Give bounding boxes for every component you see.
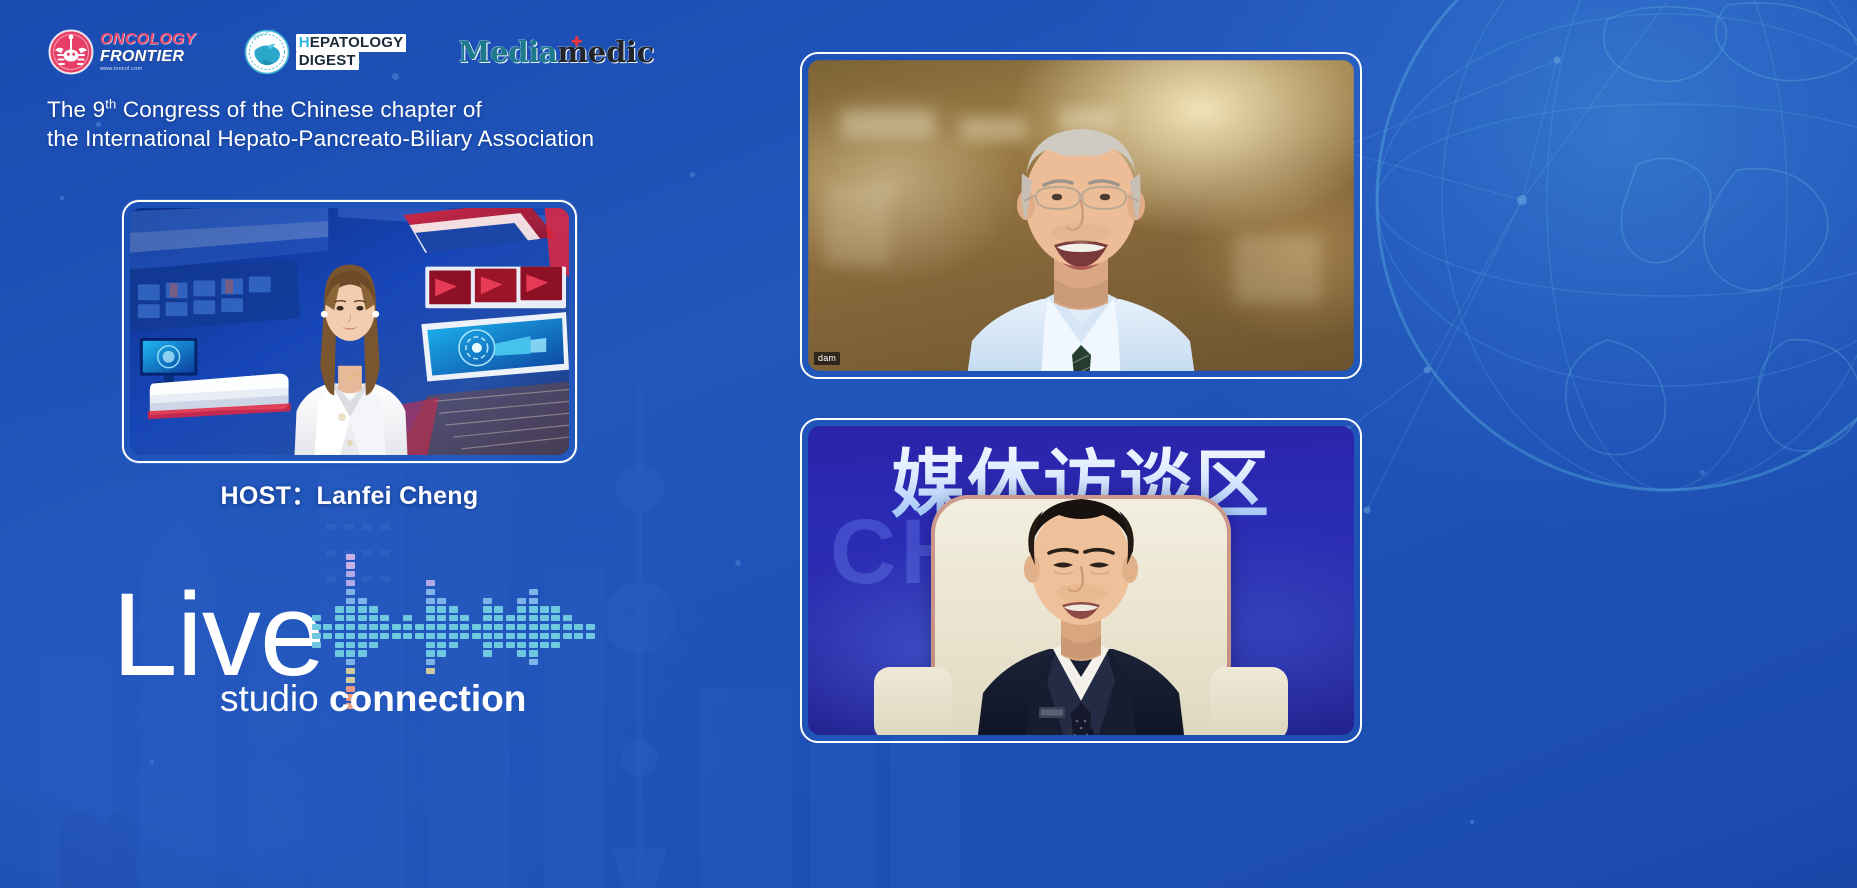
oncology-line1: ONCOLOGY	[100, 32, 196, 48]
equalizer-cell	[426, 615, 435, 621]
equalizer-cell	[426, 598, 435, 604]
equalizer-cell	[426, 624, 435, 630]
equalizer-cell	[437, 642, 446, 648]
equalizer-cell	[415, 633, 424, 639]
equalizer-cell	[358, 606, 367, 612]
equalizer-cell	[494, 615, 503, 621]
equalizer-cell	[551, 624, 560, 630]
partner-logo-row: ONCOLOGY FRONTIER www.ioncol.com HEPATOL…	[48, 26, 654, 78]
armchair-right-arm	[1210, 667, 1288, 735]
equalizer-cell	[346, 589, 355, 595]
equalizer-cell	[449, 615, 458, 621]
equalizer-cell	[540, 642, 549, 648]
equalizer-cell	[346, 615, 355, 621]
mediamedic-logo: Mediamedic ✚	[458, 38, 654, 67]
equalizer-cell	[517, 633, 526, 639]
equalizer-cell	[346, 554, 355, 560]
equalizer-cell	[574, 633, 583, 639]
equalizer-cell	[472, 633, 481, 639]
equalizer-cell	[335, 633, 344, 639]
equalizer-cell	[494, 624, 503, 630]
equalizer-cell	[483, 615, 492, 621]
equalizer-cell	[335, 650, 344, 656]
equalizer-cell	[437, 615, 446, 621]
equalizer-cell	[494, 606, 503, 612]
equalizer-cell	[483, 650, 492, 656]
equalizer-cell	[346, 598, 355, 604]
equalizer-cell	[483, 633, 492, 639]
equalizer-cell	[312, 624, 321, 630]
left-information-column: ONCOLOGY FRONTIER www.ioncol.com HEPATOL…	[0, 0, 820, 888]
congress-ordinal-suffix: th	[105, 97, 116, 112]
equalizer-cell	[426, 580, 435, 586]
equalizer-cell	[506, 642, 515, 648]
hepatology-digest-logo: HEPATOLOGY DIGEST HEPATOLOGY DIGEST	[244, 29, 407, 75]
equalizer-cell	[529, 642, 538, 648]
equalizer-cell	[529, 598, 538, 604]
equalizer-cell	[426, 668, 435, 674]
equalizer-cell	[494, 633, 503, 639]
equalizer-cell	[346, 659, 355, 665]
equalizer-cell	[437, 624, 446, 630]
equalizer-cell	[380, 633, 389, 639]
equalizer-cell	[483, 598, 492, 604]
equalizer-cell	[426, 589, 435, 595]
host-video-feed[interactable]	[130, 208, 569, 455]
equalizer-cell	[563, 624, 572, 630]
equalizer-cell	[529, 615, 538, 621]
shelf-blur-1	[841, 110, 934, 138]
equalizer-cell	[517, 642, 526, 648]
equalizer-cell	[483, 606, 492, 612]
equalizer-cell	[346, 650, 355, 656]
oncology-line2: FRONTIER	[100, 49, 196, 65]
equalizer-cell	[529, 606, 538, 612]
equalizer-cell	[392, 633, 401, 639]
equalizer-cell	[494, 642, 503, 648]
equalizer-cell	[346, 571, 355, 577]
equalizer-cell	[563, 615, 572, 621]
live-word: Live	[112, 576, 324, 694]
mediamedic-part1: Media	[458, 35, 557, 69]
equalizer-cell	[460, 633, 469, 639]
hepatology-line2: DIGEST	[296, 52, 407, 70]
equalizer-cell	[312, 615, 321, 621]
equalizer-cell	[517, 606, 526, 612]
equalizer-cell	[335, 606, 344, 612]
speaker-2-figure	[961, 469, 1201, 735]
equalizer-cell	[506, 624, 515, 630]
equalizer-cell	[358, 633, 367, 639]
congress-line1-post: Congress of the Chinese chapter of	[116, 97, 481, 122]
oncology-url: www.ioncol.com	[100, 67, 196, 73]
equalizer-cell	[358, 624, 367, 630]
equalizer-cell	[517, 598, 526, 604]
equalizer-cell	[380, 615, 389, 621]
equalizer-cell	[426, 606, 435, 612]
equalizer-cell	[392, 624, 401, 630]
equalizer-cell	[574, 624, 583, 630]
equalizer-cell	[323, 624, 332, 630]
shelf-blur-5	[1234, 234, 1321, 302]
equalizer-cell	[529, 589, 538, 595]
equalizer-cell	[460, 615, 469, 621]
equalizer-cell	[472, 624, 481, 630]
host-video-frame[interactable]	[122, 200, 577, 463]
remote-speaker-video-bottom[interactable]: CHPBA 媒体访谈区	[800, 418, 1362, 743]
equalizer-cell	[426, 659, 435, 665]
equalizer-cell	[346, 562, 355, 568]
equalizer-cell	[426, 633, 435, 639]
equalizer-cell	[449, 633, 458, 639]
medical-cross-icon: ✚	[571, 35, 582, 48]
equalizer-cell	[551, 615, 560, 621]
equalizer-cell	[346, 606, 355, 612]
equalizer-cell	[426, 642, 435, 648]
equalizer-cell	[540, 633, 549, 639]
equalizer-cell	[529, 624, 538, 630]
equalizer-cell	[506, 615, 515, 621]
equalizer-cell	[483, 642, 492, 648]
equalizer-cell	[358, 650, 367, 656]
equalizer-cell	[335, 615, 344, 621]
equalizer-cell	[449, 642, 458, 648]
congress-line1-pre: The 9	[47, 97, 105, 122]
connection-word: connection	[329, 678, 526, 719]
hepatology-rest: EPATOLOGY	[310, 34, 403, 51]
video-feed-top[interactable]: dam	[808, 60, 1354, 371]
equalizer-cell	[517, 650, 526, 656]
equalizer-cell	[369, 642, 378, 648]
equalizer-cell	[586, 633, 595, 639]
equalizer-cell	[335, 624, 344, 630]
equalizer-cell	[403, 624, 412, 630]
equalizer-cell	[517, 624, 526, 630]
equalizer-cell	[346, 668, 355, 674]
equalizer-cell	[346, 633, 355, 639]
equalizer-cell	[323, 633, 332, 639]
equalizer-cell	[346, 624, 355, 630]
hepatology-digest-wordmark: HEPATOLOGY DIGEST	[296, 34, 407, 70]
equalizer-cell	[380, 624, 389, 630]
studio-connection-line: studio connection	[220, 680, 526, 717]
remote-speaker-video-top[interactable]: dam	[800, 52, 1362, 379]
participant-name-tag-top: dam	[814, 352, 840, 366]
equalizer-cell	[369, 606, 378, 612]
equalizer-cell	[540, 624, 549, 630]
congress-title: The 9th Congress of the Chinese chapter …	[47, 96, 747, 154]
equalizer-cell	[415, 624, 424, 630]
liver-emblem-icon: HEPATOLOGY DIGEST	[244, 29, 290, 75]
equalizer-cell	[403, 633, 412, 639]
oncology-frontier-wordmark: ONCOLOGY FRONTIER www.ioncol.com	[100, 32, 196, 73]
equalizer-cell	[551, 642, 560, 648]
equalizer-cell	[460, 624, 469, 630]
crab-emblem-icon	[48, 29, 94, 75]
equalizer-cell	[563, 633, 572, 639]
equalizer-cell	[551, 606, 560, 612]
hepatology-accent-letter: H	[299, 34, 310, 51]
equalizer-cell	[437, 606, 446, 612]
equalizer-cell	[369, 615, 378, 621]
equalizer-cell	[540, 615, 549, 621]
equalizer-cell	[358, 642, 367, 648]
shelf-blur-4	[824, 184, 890, 265]
equalizer-cell	[483, 624, 492, 630]
equalizer-cell	[517, 615, 526, 621]
equalizer-cell	[529, 659, 538, 665]
equalizer-cell	[437, 650, 446, 656]
equalizer-cell	[426, 650, 435, 656]
equalizer-cell	[551, 633, 560, 639]
equalizer-cell	[346, 642, 355, 648]
equalizer-cell	[449, 606, 458, 612]
equalizer-cell	[437, 633, 446, 639]
equalizer-cell	[540, 606, 549, 612]
host-name: Lanfei Cheng	[317, 482, 479, 510]
equalizer-cell	[369, 633, 378, 639]
video-feed-bottom[interactable]: CHPBA 媒体访谈区	[808, 426, 1354, 735]
armchair-left-arm	[874, 667, 952, 735]
equalizer-cell	[358, 598, 367, 604]
equalizer-cell	[449, 624, 458, 630]
equalizer-cell	[312, 642, 321, 648]
equalizer-cell	[506, 633, 515, 639]
studio-word: studio	[220, 678, 329, 719]
hepatology-line1: HEPATOLOGY	[296, 34, 407, 52]
equalizer-cell	[403, 615, 412, 621]
equalizer-cell	[586, 624, 595, 630]
host-caption: HOST：Lanfei Cheng	[122, 476, 577, 512]
equalizer-cell	[346, 580, 355, 586]
equalizer-cell	[335, 642, 344, 648]
congress-line2: the International Hepato-Pancreato-Bilia…	[47, 126, 594, 151]
equalizer-cell	[369, 624, 378, 630]
equalizer-cell	[312, 633, 321, 639]
equalizer-cell	[529, 633, 538, 639]
mediamedic-wordmark: Mediamedic	[458, 38, 654, 67]
equalizer-cell	[437, 598, 446, 604]
equalizer-cell	[358, 615, 367, 621]
host-label: HOST：	[221, 482, 317, 510]
oncology-frontier-logo: ONCOLOGY FRONTIER www.ioncol.com	[48, 29, 196, 75]
speaker-1-figure	[936, 97, 1226, 371]
equalizer-cell	[529, 650, 538, 656]
live-studio-connection-badge: Live studio connection	[112, 576, 632, 726]
